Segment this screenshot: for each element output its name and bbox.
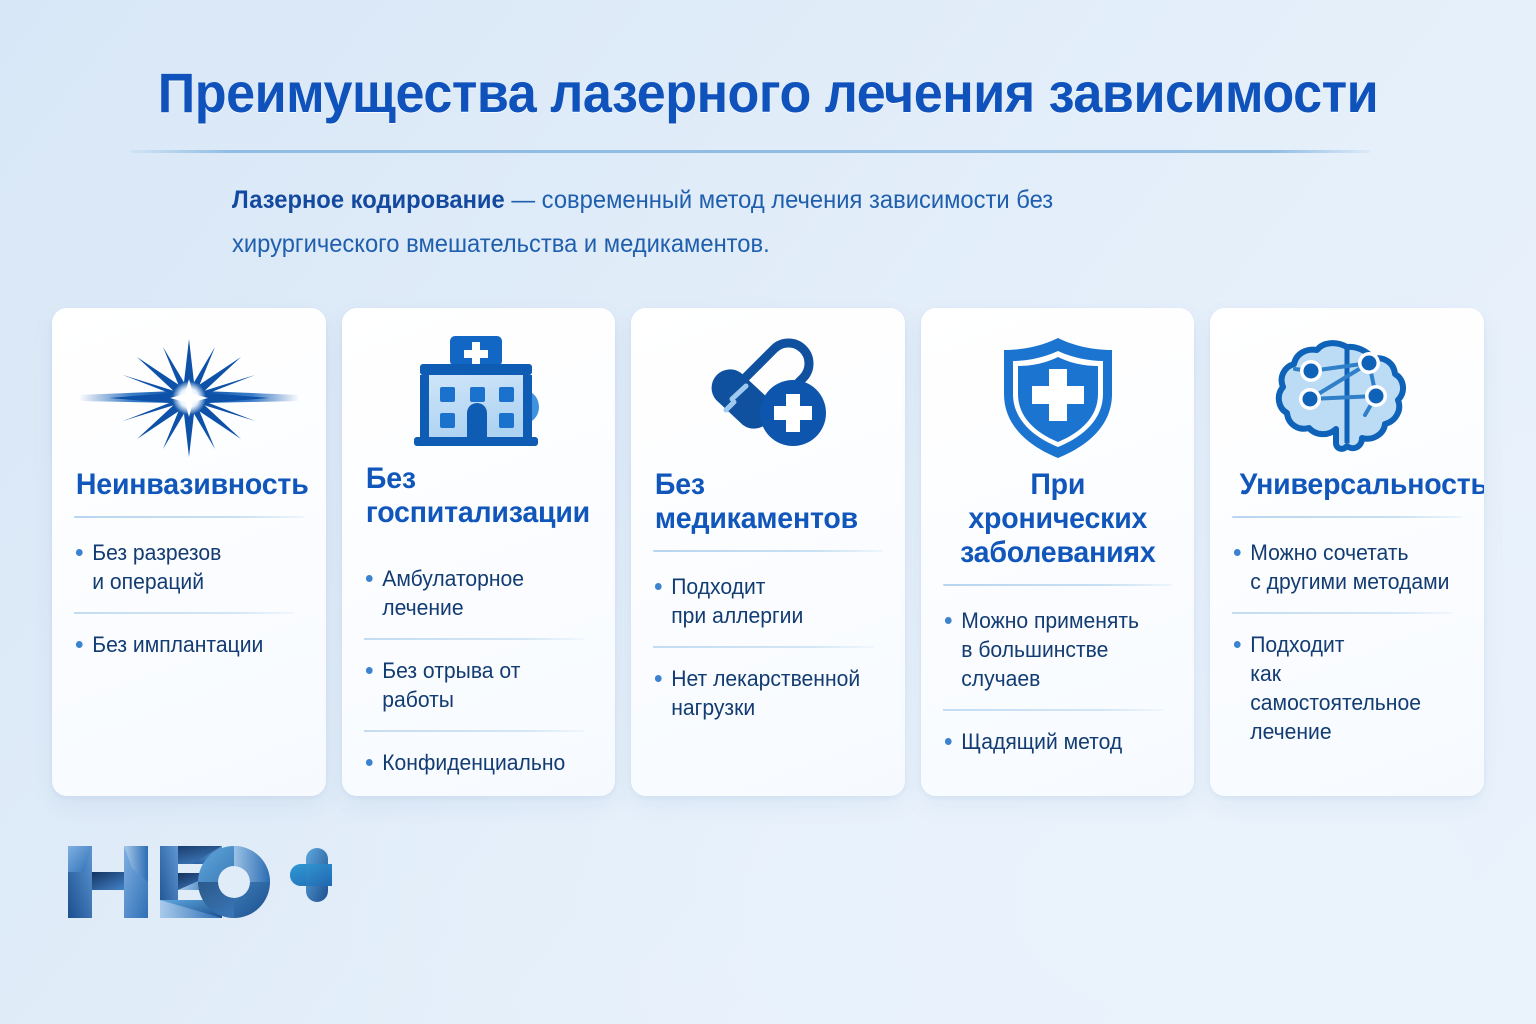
card-title: Без медикаментов xyxy=(653,468,871,536)
hospital-building-icon xyxy=(398,334,558,456)
list-item: Без разрезов и операций xyxy=(74,522,294,612)
card-title: Неинвазивность xyxy=(74,468,292,502)
brain-network-icon xyxy=(1273,334,1421,462)
list-item: Можно применять в большинстве случаев xyxy=(943,590,1163,709)
neo-plus-logo xyxy=(62,838,332,926)
card-title: При хронических заболеваниях xyxy=(949,468,1167,570)
list-item: Нет лекарственной нагрузки xyxy=(653,646,873,738)
page-title: Преимущества лазерного лечения зависимос… xyxy=(54,62,1482,124)
benefit-card-list: Неинвазивность Без разрезов и операций Б… xyxy=(52,308,1484,796)
subtitle: Лазерное кодирование — современный метод… xyxy=(232,178,1144,266)
bullet-dot-icon xyxy=(1234,641,1241,648)
card-divider xyxy=(1232,516,1462,518)
bullet-dot-icon xyxy=(655,583,662,590)
list-item: Конфиденциально xyxy=(364,730,584,793)
bullet-text: Щадящий метод xyxy=(961,727,1122,756)
bullet-text: Можно применять в большинстве случаев xyxy=(961,606,1161,693)
card-title: Универсальность xyxy=(1238,468,1456,502)
shield-cross-icon xyxy=(996,334,1120,462)
subtitle-strong: Лазерное кодирование xyxy=(232,186,505,214)
card-divider xyxy=(943,584,1173,586)
title-divider xyxy=(130,150,1370,153)
benefit-card-universal[interactable]: Универсальность Можно сочетать с другими… xyxy=(1210,308,1484,796)
bullet-text: Амбулаторное лечение xyxy=(382,564,524,622)
bullet-dot-icon xyxy=(1234,549,1241,556)
list-item: Без имплантации xyxy=(74,612,294,675)
benefit-card-chronic[interactable]: При хронических заболеваниях Можно приме… xyxy=(921,308,1195,796)
bullet-list: Без разрезов и операций Без имплантации xyxy=(74,522,304,675)
bullet-text: Нет лекарственной нагрузки xyxy=(671,664,860,722)
list-item: Подходит как самостоятельное лечение xyxy=(1232,612,1452,762)
benefit-card-no-medication[interactable]: Без медикаментов Подходит при аллергии Н… xyxy=(631,308,905,796)
bullet-text: Без разрезов и операций xyxy=(92,538,221,596)
bullet-dot-icon xyxy=(366,667,373,674)
bullet-text: Конфиденциально xyxy=(382,748,565,777)
list-item: Подходит при аллергии xyxy=(653,556,873,646)
list-item: Щадящий метод xyxy=(943,709,1163,772)
card-divider xyxy=(653,550,883,552)
list-item: Амбулаторное лечение xyxy=(364,548,584,638)
bullet-dot-icon xyxy=(76,549,83,556)
bullet-dot-icon xyxy=(655,675,662,682)
benefit-card-noninvasive[interactable]: Неинвазивность Без разрезов и операций Б… xyxy=(52,308,326,796)
list-item: Без отрыва от работы xyxy=(364,638,584,730)
pills-cross-icon xyxy=(698,334,838,462)
list-item: Можно сочетать с другими методами xyxy=(1232,522,1452,612)
bullet-text: Без отрыва от работы xyxy=(382,656,582,714)
bullet-list: Амбулаторное лечение Без отрыва от работ… xyxy=(364,548,594,793)
card-title: Без госпитализации xyxy=(364,462,582,530)
laser-burst-icon xyxy=(79,334,299,462)
bullet-dot-icon xyxy=(945,738,952,745)
card-divider xyxy=(74,516,304,518)
bullet-text: Без имплантации xyxy=(92,630,263,659)
bullet-text: Подходит как самостоятельное лечение xyxy=(1251,630,1451,746)
bullet-dot-icon xyxy=(76,641,83,648)
bullet-dot-icon xyxy=(366,575,373,582)
bullet-text: Подходит при аллергии xyxy=(671,572,803,630)
bullet-text: Можно сочетать с другими методами xyxy=(1251,538,1450,596)
bullet-list: Можно применять в большинстве случаев Ща… xyxy=(943,590,1173,772)
bullet-list: Можно сочетать с другими методами Подход… xyxy=(1232,522,1462,762)
benefit-card-no-hospitalization[interactable]: Без госпитализации Амбулаторное лечение … xyxy=(342,308,616,796)
bullet-list: Подходит при аллергии Нет лекарственной … xyxy=(653,556,883,738)
bullet-dot-icon xyxy=(366,759,373,766)
infographic-canvas: Преимущества лазерного лечения зависимос… xyxy=(0,0,1536,1024)
bullet-dot-icon xyxy=(945,617,952,624)
